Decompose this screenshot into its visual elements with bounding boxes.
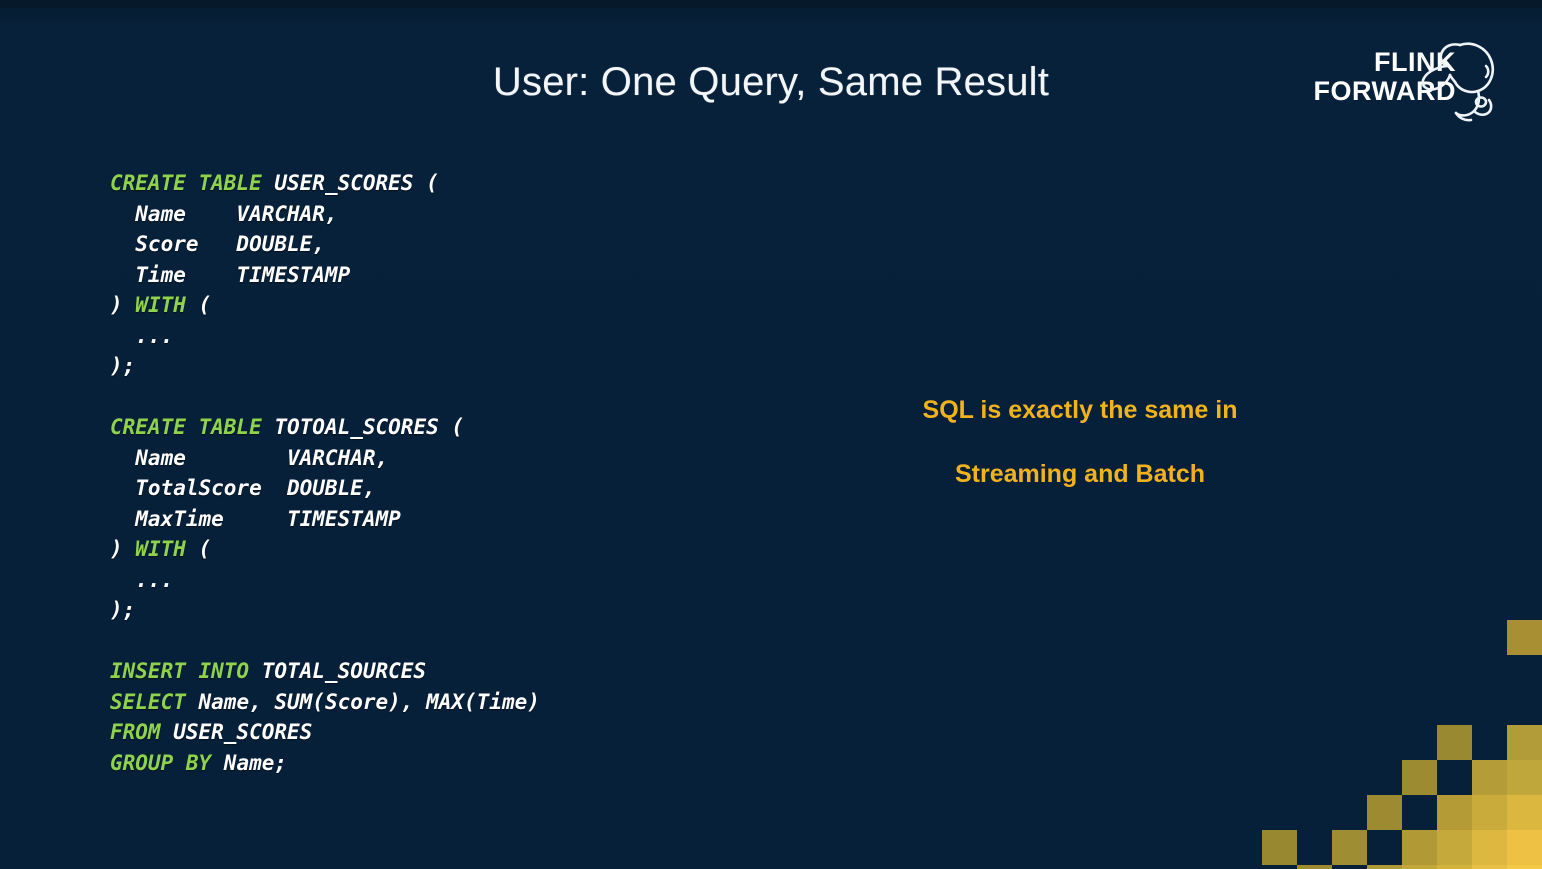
sql-identifier: ); xyxy=(110,598,135,622)
decoration-cell xyxy=(1472,865,1507,869)
decoration-cell xyxy=(1402,830,1437,865)
sql-keyword: FROM xyxy=(110,720,173,744)
sql-keyword: INSERT INTO xyxy=(110,659,262,683)
sql-identifier: ( xyxy=(186,293,211,317)
decoration-cell xyxy=(1507,725,1542,760)
code-line: FROM USER_SCORES xyxy=(110,717,540,748)
callout-line-2: Streaming and Batch xyxy=(860,442,1300,506)
sql-identifier: Name; xyxy=(224,751,287,775)
sql-identifier: Name VARCHAR, xyxy=(110,446,388,470)
sql-keyword: GROUP BY xyxy=(110,751,224,775)
sql-identifier: ( xyxy=(186,537,211,561)
decoration-cell xyxy=(1472,830,1507,865)
code-line: Name VARCHAR, xyxy=(110,443,540,474)
sql-keyword: SELECT xyxy=(110,690,199,714)
code-line: MaxTime TIMESTAMP xyxy=(110,504,540,535)
code-line: TotalScore DOUBLE, xyxy=(110,473,540,504)
sql-identifier: TotalScore DOUBLE, xyxy=(110,476,376,500)
decoration-cell xyxy=(1507,620,1542,655)
checkerboard-decoration xyxy=(1262,620,1542,869)
sql-identifier: ); xyxy=(110,354,135,378)
decoration-cell xyxy=(1402,865,1437,869)
decoration-cell xyxy=(1367,795,1402,830)
sql-keyword: WITH xyxy=(135,293,186,317)
code-line: Name VARCHAR, xyxy=(110,199,540,230)
code-blank-line xyxy=(110,382,540,413)
decoration-cell xyxy=(1262,830,1297,865)
code-line: ); xyxy=(110,351,540,382)
sql-keyword: WITH xyxy=(135,537,186,561)
code-line: ); xyxy=(110,595,540,626)
sql-keyword: CREATE TABLE xyxy=(110,171,274,195)
callout-line-1: SQL is exactly the same in xyxy=(860,378,1300,442)
code-line: ) WITH ( xyxy=(110,534,540,565)
decoration-cell xyxy=(1367,865,1402,869)
code-line: ) WITH ( xyxy=(110,290,540,321)
sql-identifier: ) xyxy=(110,537,135,561)
decoration-cell xyxy=(1332,830,1367,865)
decoration-cell xyxy=(1437,865,1472,869)
decoration-cell xyxy=(1472,795,1507,830)
squirrel-icon xyxy=(1414,36,1510,128)
sql-identifier: TOTAL_SOURCES xyxy=(262,659,426,683)
sql-identifier: Name, SUM(Score), MAX(Time) xyxy=(199,690,540,714)
sql-keyword: CREATE TABLE xyxy=(110,415,274,439)
sql-code-block: CREATE TABLE USER_SCORES ( Name VARCHAR,… xyxy=(110,168,540,778)
code-line: CREATE TABLE USER_SCORES ( xyxy=(110,168,540,199)
decoration-cell xyxy=(1437,795,1472,830)
sql-identifier: USER_SCORES ( xyxy=(274,171,438,195)
decoration-cell xyxy=(1507,830,1542,865)
decoration-cell xyxy=(1507,865,1542,869)
decoration-cell xyxy=(1507,795,1542,830)
top-edge-band xyxy=(0,0,1542,8)
decoration-cell xyxy=(1507,760,1542,795)
code-line: GROUP BY Name; xyxy=(110,748,540,779)
code-line: Score DOUBLE, xyxy=(110,229,540,260)
decoration-cell xyxy=(1437,725,1472,760)
sql-identifier: Score DOUBLE, xyxy=(110,232,325,256)
code-line: CREATE TABLE TOTOAL_SCORES ( xyxy=(110,412,540,443)
decoration-cell xyxy=(1437,830,1472,865)
sql-identifier: ) xyxy=(110,293,135,317)
sql-identifier: ... xyxy=(110,324,173,348)
sql-identifier: ... xyxy=(110,568,173,592)
code-line: Time TIMESTAMP xyxy=(110,260,540,291)
sql-identifier: TOTOAL_SCORES ( xyxy=(274,415,464,439)
sql-identifier: Name VARCHAR, xyxy=(110,202,338,226)
code-line: INSERT INTO TOTAL_SOURCES xyxy=(110,656,540,687)
decoration-cell xyxy=(1297,865,1332,869)
code-line: ... xyxy=(110,565,540,596)
code-blank-line xyxy=(110,626,540,657)
callout-text: SQL is exactly the same in Streaming and… xyxy=(860,378,1300,506)
sql-identifier: Time TIMESTAMP xyxy=(110,263,350,287)
slide-root: User: One Query, Same Result FLINK FORWA… xyxy=(0,0,1542,869)
code-line: ... xyxy=(110,321,540,352)
decoration-cell xyxy=(1402,760,1437,795)
flink-forward-logo: FLINK FORWARD xyxy=(1304,42,1504,124)
sql-identifier: USER_SCORES xyxy=(173,720,312,744)
code-line: SELECT Name, SUM(Score), MAX(Time) xyxy=(110,687,540,718)
decoration-cell xyxy=(1472,760,1507,795)
sql-identifier: MaxTime TIMESTAMP xyxy=(110,507,401,531)
